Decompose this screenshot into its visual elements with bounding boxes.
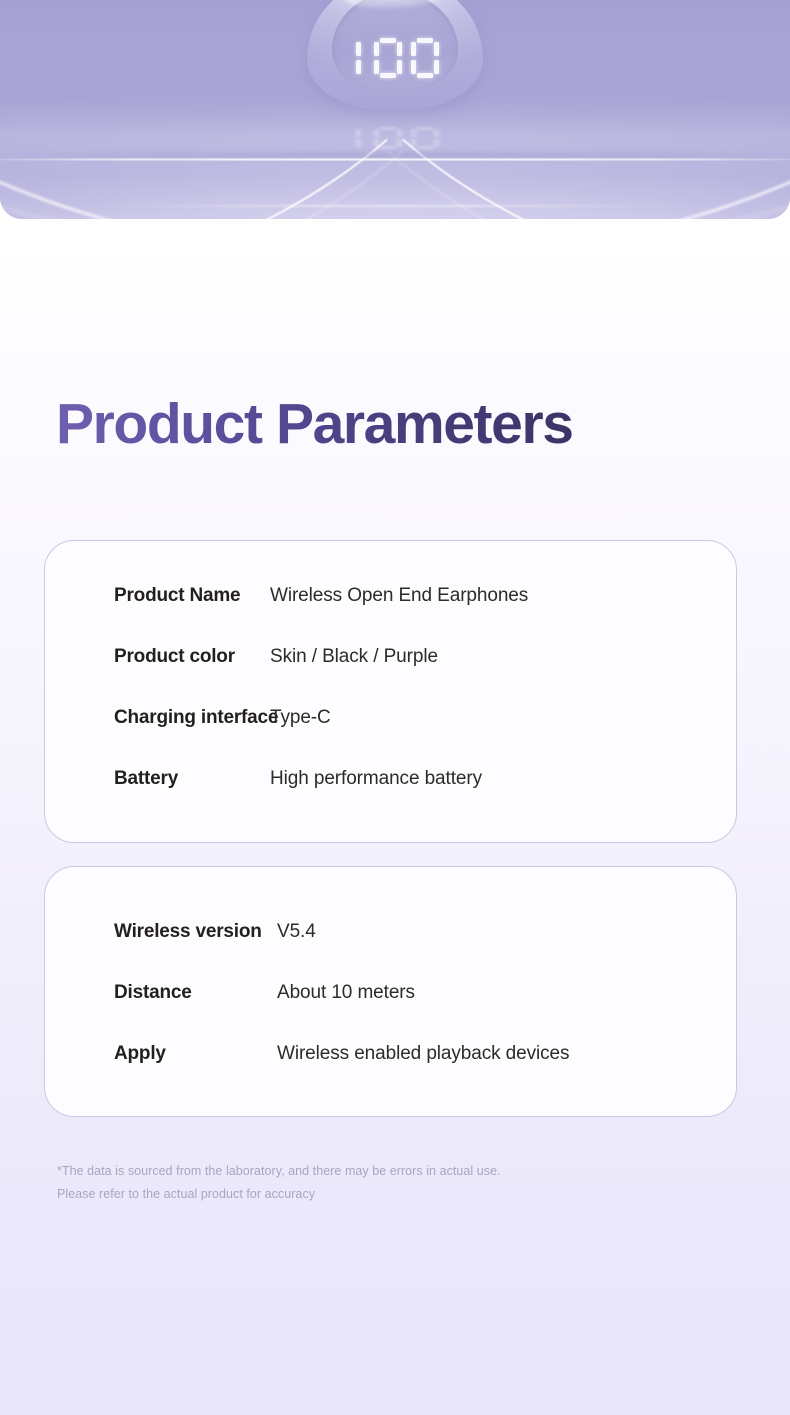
case-lower-seam — [80, 205, 710, 207]
spec-row: Wireless version V5.4 — [45, 921, 736, 982]
spec-value: About 10 meters — [277, 982, 415, 1004]
spec-label: Distance — [45, 982, 277, 1004]
spec-value: Type-C — [270, 707, 331, 729]
page-title: Product Parameters — [56, 396, 573, 453]
disclaimer-footnote: *The data is sourced from the laboratory… — [57, 1160, 501, 1206]
hero-product-image — [0, 0, 790, 219]
spec-row: Product color Skin / Black / Purple — [45, 646, 736, 707]
spec-row: Battery High performance battery — [45, 768, 736, 829]
disclaimer-line-1: *The data is sourced from the laboratory… — [57, 1160, 501, 1183]
spec-label: Battery — [45, 768, 270, 790]
spec-row: Charging interface Type-C — [45, 707, 736, 768]
spec-value: Skin / Black / Purple — [270, 646, 438, 668]
spec-label: Apply — [45, 1043, 277, 1065]
spec-label: Charging interface — [45, 707, 270, 729]
spec-row: Apply Wireless enabled playback devices — [45, 1043, 736, 1104]
spec-value: V5.4 — [277, 921, 316, 943]
spec-value: Wireless Open End Earphones — [270, 585, 528, 607]
spec-card-product-basics: Product Name Wireless Open End Earphones… — [44, 540, 737, 843]
spec-row-group: Wireless version V5.4 Distance About 10 … — [45, 867, 736, 1104]
spec-row: Distance About 10 meters — [45, 982, 736, 1043]
case-seam-highlight — [0, 158, 790, 160]
spec-label: Wireless version — [45, 921, 277, 943]
seven-segment-digit-1 — [351, 38, 365, 78]
spec-value: Wireless enabled playback devices — [277, 1043, 569, 1065]
spec-card-wireless-specs: Wireless version V5.4 Distance About 10 … — [44, 866, 737, 1117]
battery-level-display — [351, 38, 439, 78]
spec-label: Product Name — [45, 585, 270, 607]
disclaimer-line-2: Please refer to the actual product for a… — [57, 1183, 501, 1206]
battery-display-reflection — [351, 127, 439, 149]
spec-row-group: Product Name Wireless Open End Earphones… — [45, 541, 736, 829]
seven-segment-digit-0b — [411, 38, 439, 78]
seven-segment-digit-0a — [374, 38, 402, 78]
spec-row: Product Name Wireless Open End Earphones — [45, 585, 736, 646]
spec-label: Product color — [45, 646, 270, 668]
spec-value: High performance battery — [270, 768, 482, 790]
